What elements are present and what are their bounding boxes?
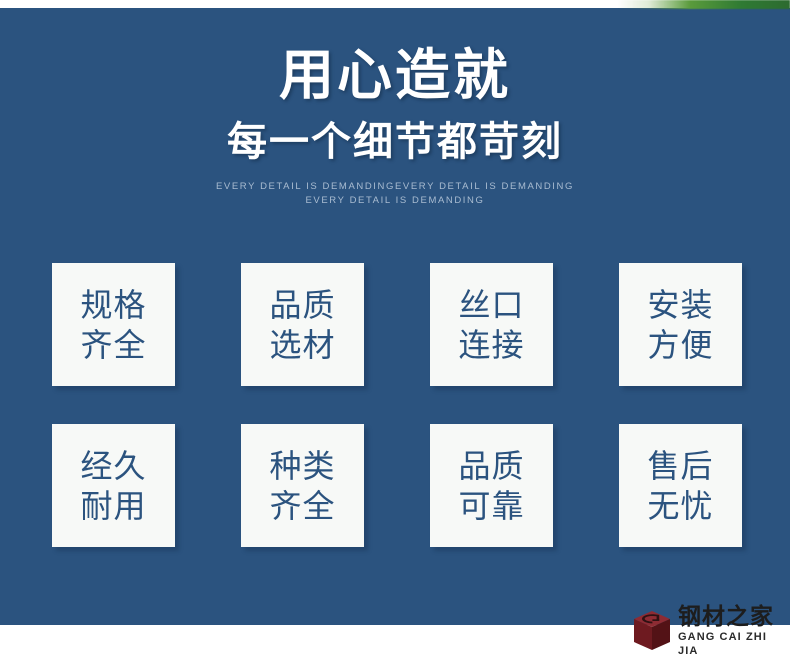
feature-card-2-line-2: 选材: [269, 325, 335, 365]
feature-card-1-line-2: 齐全: [80, 325, 146, 365]
feature-card-5-line-1: 经久: [80, 446, 146, 486]
feature-card-7: 品质 可靠: [430, 424, 553, 547]
page-subtitle: 每一个细节都苛刻: [0, 118, 790, 166]
headings-block: 用心造就 每一个细节都苛刻 EVERY DETAIL IS DEMANDINGE…: [0, 44, 790, 208]
feature-card-5: 经久 耐用: [52, 424, 175, 547]
feature-card-4: 安装 方便: [619, 263, 742, 386]
feature-card-7-line-1: 品质: [458, 446, 524, 486]
feature-card-8-line-2: 无忧: [647, 486, 713, 526]
feature-card-3-line-2: 连接: [458, 325, 524, 365]
feature-card-6-line-2: 齐全: [269, 486, 335, 526]
feature-card-3: 丝口 连接: [430, 263, 553, 386]
english-tagline-line-2: EVERY DETAIL IS DEMANDING: [0, 194, 790, 208]
page-title: 用心造就: [0, 44, 790, 106]
feature-card-1-line-1: 规格: [80, 285, 146, 325]
feature-card-5-line-2: 耐用: [80, 486, 146, 526]
brand-name-en: GANG CAI ZHI JIA: [678, 630, 790, 658]
feature-card-7-line-2: 可靠: [458, 486, 524, 526]
feature-card-6: 种类 齐全: [241, 424, 364, 547]
feature-card-8-line-1: 售后: [647, 446, 713, 486]
brand-text-block: 钢材之家 GANG CAI ZHI JIA: [678, 605, 790, 658]
feature-card-1: 规格 齐全: [52, 263, 175, 386]
feature-card-6-line-1: 种类: [269, 446, 335, 486]
brand-watermark: 钢材之家 GANG CAI ZHI JIA: [632, 608, 790, 654]
english-tagline: EVERY DETAIL IS DEMANDINGEVERY DETAIL IS…: [0, 180, 790, 208]
feature-card-3-line-1: 丝口: [458, 285, 524, 325]
feature-card-2: 品质 选材: [241, 263, 364, 386]
feature-card-4-line-2: 方便: [647, 325, 713, 365]
english-tagline-line-1: EVERY DETAIL IS DEMANDINGEVERY DETAIL IS…: [0, 180, 790, 194]
top-green-accent-strip: [618, 0, 790, 9]
feature-card-grid: 规格 齐全 品质 选材 丝口 连接 安装 方便 经久 耐用 种类 齐全 品质 可…: [52, 263, 742, 547]
promo-poster: 用心造就 每一个细节都苛刻 EVERY DETAIL IS DEMANDINGE…: [0, 0, 790, 661]
brand-name-cn: 钢材之家: [678, 605, 790, 630]
feature-card-8: 售后 无忧: [619, 424, 742, 547]
cube-logo-icon: [632, 610, 672, 652]
feature-card-4-line-1: 安装: [647, 285, 713, 325]
feature-card-2-line-1: 品质: [269, 285, 335, 325]
